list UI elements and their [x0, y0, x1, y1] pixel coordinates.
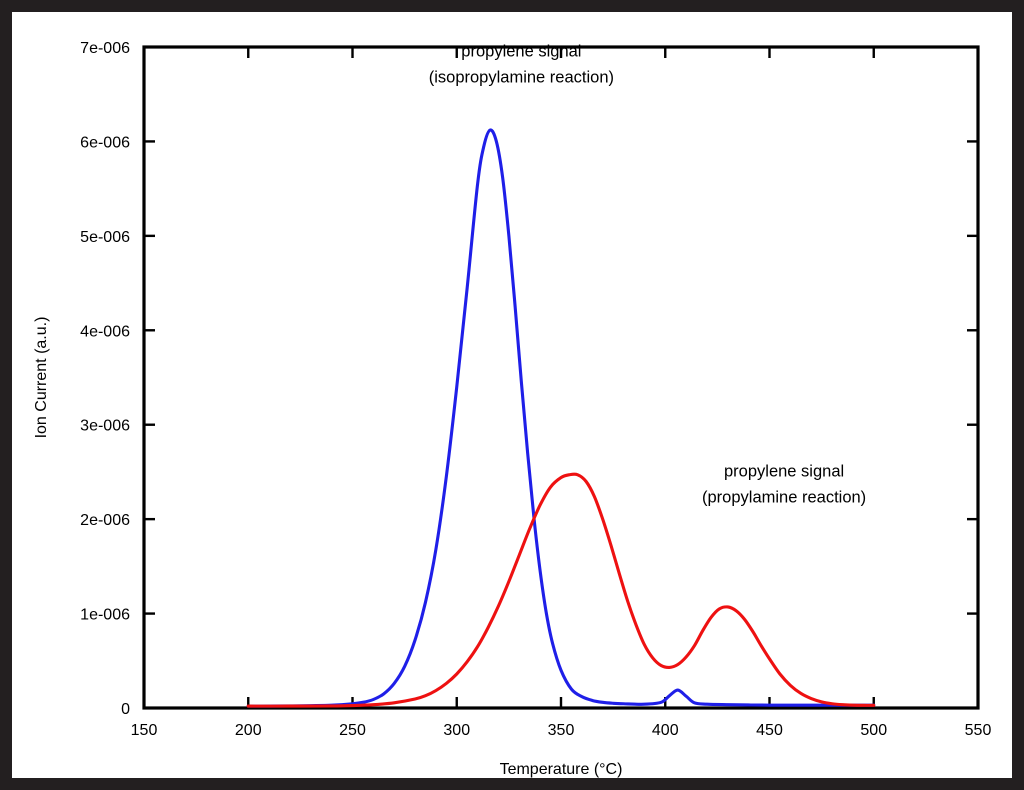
x-tick-label: 550 [965, 722, 992, 739]
y-tick-label: 5e-006 [80, 229, 130, 246]
y-tick-label: 7e-006 [80, 40, 130, 57]
x-tick-label: 350 [548, 722, 575, 739]
chart-canvas: 150200250300350400450500550 01e-0062e-00… [12, 12, 1012, 778]
y-tick-label: 0 [121, 701, 130, 718]
x-tick-label: 400 [652, 722, 679, 739]
annotation-line-2: (isopropylamine reaction) [429, 68, 614, 86]
figure-frame: 150200250300350400450500550 01e-0062e-00… [12, 12, 1012, 778]
plot-background [12, 12, 1012, 778]
annotation-line-1: propylene signal [724, 463, 844, 481]
x-tick-label: 150 [131, 722, 158, 739]
y-tick-label: 1e-006 [80, 607, 130, 624]
y-tick-label: 4e-006 [80, 323, 130, 340]
y-axis-title: Ion Current (a.u.) [33, 317, 50, 439]
y-tick-label: 2e-006 [80, 512, 130, 529]
y-tick-label: 3e-006 [80, 418, 130, 435]
ion-current-temperature-chart: 150200250300350400450500550 01e-0062e-00… [12, 12, 1012, 778]
annotation-line-2: (propylamine reaction) [702, 489, 866, 507]
x-tick-label: 200 [235, 722, 262, 739]
x-tick-label: 250 [339, 722, 366, 739]
x-tick-label: 500 [860, 722, 887, 739]
y-tick-label: 6e-006 [80, 134, 130, 151]
x-axis-tick-labels: 150200250300350400450500550 [131, 722, 992, 739]
x-axis-title: Temperature (°C) [500, 761, 623, 778]
x-tick-label: 450 [756, 722, 783, 739]
x-tick-label: 300 [443, 722, 470, 739]
annotation-line-1: propylene signal [461, 42, 581, 60]
